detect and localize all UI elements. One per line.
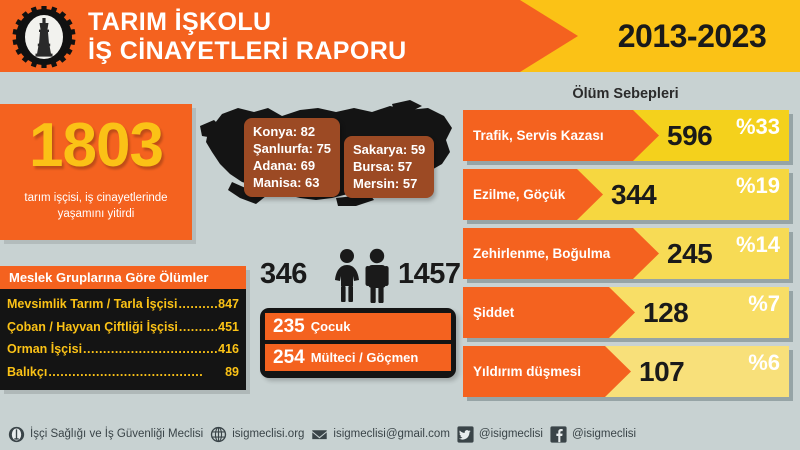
twitter-icon xyxy=(457,426,474,443)
occupation-value: 89 xyxy=(225,361,239,384)
footer-text: isigmeclisi.org xyxy=(232,428,304,440)
causes-bar-chart: Trafik, Servis Kazası 596 %33 Ezilme, Gö… xyxy=(463,110,789,405)
bar-value-label: 128 xyxy=(643,287,688,338)
occupation-label: Mevsimlik Tarım / Tarla İşçisi xyxy=(7,293,177,316)
occupation-value: 847 xyxy=(218,293,239,316)
city-stat: Sakarya: 59 xyxy=(353,141,425,158)
leader-dots: ....................................... xyxy=(178,293,217,316)
bar-percent-label: %14 xyxy=(736,232,780,258)
envelope-icon xyxy=(311,426,328,443)
footer-text: isigmeclisi@gmail.com xyxy=(333,428,449,440)
bar-value-label: 596 xyxy=(667,110,712,161)
bar-category-label: Yıldırım düşmesi xyxy=(473,346,581,397)
occupation-label: Çoban / Hayvan Çiftliği İşçisi xyxy=(7,316,178,339)
gender-figures xyxy=(330,248,396,304)
footer-item-website[interactable]: isigmeclisi.org xyxy=(210,426,304,443)
occupation-row: Mevsimlik Tarım / Tarla İşçisi .........… xyxy=(7,293,239,316)
total-deaths-caption: tarım işçisi, iş cinayetlerinde yaşamını… xyxy=(8,190,184,222)
bar-value-label: 245 xyxy=(667,228,712,279)
migrant-death-label: Mülteci / Göçmen xyxy=(311,350,419,365)
city-stat: Mersin: 57 xyxy=(353,175,425,192)
occupation-row: Balıkçı ................................… xyxy=(7,361,239,384)
bar-percent-label: %19 xyxy=(736,173,780,199)
female-figure-icon xyxy=(335,249,359,302)
globe-icon xyxy=(210,426,227,443)
city-stat: Şanlıurfa: 75 xyxy=(253,140,331,157)
leader-dots: ....................................... xyxy=(48,361,224,384)
male-figure-icon xyxy=(366,249,389,303)
city-card-group-1: Konya: 82 Şanlıurfa: 75 Adana: 69 Manisa… xyxy=(244,118,340,197)
city-stat: Konya: 82 xyxy=(253,123,331,140)
occupation-groups-list: Mevsimlik Tarım / Tarla İşçisi .........… xyxy=(7,293,239,383)
turkey-map: Konya: 82 Şanlıurfa: 75 Adana: 69 Manisa… xyxy=(196,86,458,226)
chart-bar-row: Yıldırım düşmesi 107 %6 xyxy=(463,346,789,397)
occupation-groups-title: Meslek Gruplarına Göre Ölümler xyxy=(0,266,246,289)
city-stat: Adana: 69 xyxy=(253,157,331,174)
bar-category-label: Ezilme, Göçük xyxy=(473,169,565,220)
header-title-line1: TARIM İŞKOLU xyxy=(88,8,508,37)
footer-item-twitter[interactable]: @isigmeclisi xyxy=(457,426,543,443)
occupation-row: Orman İşçisi ...........................… xyxy=(7,338,239,361)
footer-contact-bar: İşçi Sağlığı ve İş Güvenliği Meclisi isi… xyxy=(0,418,800,450)
bar-value-label: 107 xyxy=(639,346,684,397)
footer-text: @isigmeclisi xyxy=(572,428,636,440)
female-death-count: 346 xyxy=(260,258,307,291)
footer-text: @isigmeclisi xyxy=(479,428,543,440)
city-stat: Bursa: 57 xyxy=(353,158,425,175)
chart-bar-row: Trafik, Servis Kazası 596 %33 xyxy=(463,110,789,161)
child-migrant-card: 235 Çocuk 254 Mülteci / Göçmen xyxy=(260,308,456,378)
migrant-death-row: 254 Mülteci / Göçmen xyxy=(265,344,451,371)
chart-bar-row: Şiddet 128 %7 xyxy=(463,287,789,338)
total-deaths-number: 1803 xyxy=(0,110,192,182)
gear-monument-logo-icon xyxy=(8,6,80,68)
child-death-label: Çocuk xyxy=(311,319,351,334)
migrant-death-count: 254 xyxy=(273,347,305,369)
leader-dots: ....................................... xyxy=(179,316,217,339)
male-death-count: 1457 xyxy=(398,258,461,291)
child-death-count: 235 xyxy=(273,316,305,338)
occupation-label: Balıkçı xyxy=(7,361,47,384)
header-year-range: 2013-2023 xyxy=(592,0,792,72)
chart-bar-row: Ezilme, Göçük 344 %19 xyxy=(463,169,789,220)
occupation-value: 416 xyxy=(218,338,239,361)
bar-value-label: 344 xyxy=(611,169,656,220)
chart-bar-row: Zehirlenme, Boğulma 245 %14 xyxy=(463,228,789,279)
child-death-row: 235 Çocuk xyxy=(265,313,451,340)
header-banner: TARIM İŞKOLU İŞ CİNAYETLERİ RAPORU 2013-… xyxy=(0,0,800,72)
organization-logo-icon xyxy=(8,426,25,443)
footer-text: İşçi Sağlığı ve İş Güvenliği Meclisi xyxy=(30,428,203,440)
occupation-label: Orman İşçisi xyxy=(7,338,82,361)
city-stat: Manisa: 63 xyxy=(253,174,331,191)
occupation-groups-card: Meslek Gruplarına Göre Ölümler Mevsimlik… xyxy=(0,266,246,390)
city-card-group-2: Sakarya: 59 Bursa: 57 Mersin: 57 xyxy=(344,136,434,198)
gender-breakdown: 346 1457 xyxy=(258,248,458,304)
bar-category-label: Şiddet xyxy=(473,287,514,338)
bar-percent-label: %7 xyxy=(748,291,780,317)
bar-percent-label: %6 xyxy=(748,350,780,376)
total-deaths-card: 1803 tarım işçisi, iş cinayetlerinde yaş… xyxy=(0,104,192,240)
header-title-line2: İŞ CİNAYETLERİ RAPORU xyxy=(88,37,508,66)
footer-item-email[interactable]: isigmeclisi@gmail.com xyxy=(311,426,449,443)
occupation-row: Çoban / Hayvan Çiftliği İşçisi .........… xyxy=(7,316,239,339)
causes-chart-title: Ölüm Sebepleri xyxy=(463,86,788,106)
footer-item-organization: İşçi Sağlığı ve İş Güvenliği Meclisi xyxy=(8,426,203,443)
header-title: TARIM İŞKOLU İŞ CİNAYETLERİ RAPORU xyxy=(88,6,508,68)
infographic-page: TARIM İŞKOLU İŞ CİNAYETLERİ RAPORU 2013-… xyxy=(0,0,800,450)
bar-category-label: Trafik, Servis Kazası xyxy=(473,110,604,161)
facebook-icon xyxy=(550,426,567,443)
bar-percent-label: %33 xyxy=(736,114,780,140)
leader-dots: ....................................... xyxy=(83,338,217,361)
bar-category-label: Zehirlenme, Boğulma xyxy=(473,228,610,279)
footer-item-facebook[interactable]: @isigmeclisi xyxy=(550,426,636,443)
occupation-value: 451 xyxy=(218,316,239,339)
